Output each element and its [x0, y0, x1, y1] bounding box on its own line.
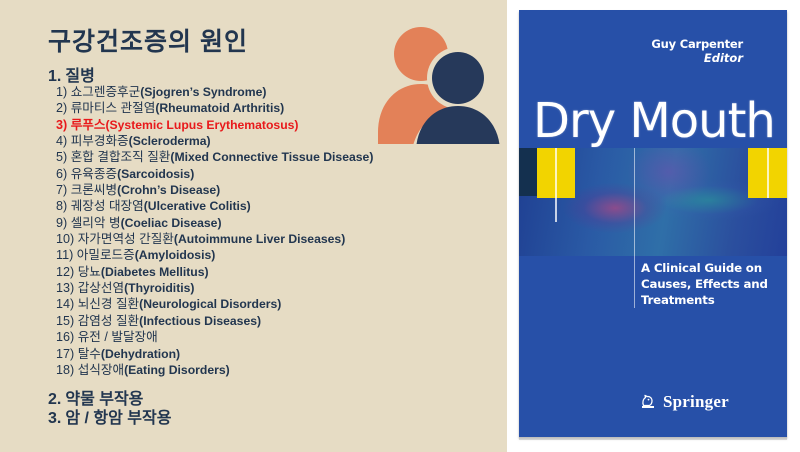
list-item-index: 1)	[56, 85, 67, 99]
list-item-label-en: (Autoimmune Liver Diseases)	[174, 232, 345, 246]
list-item-label-en: (Mixed Connective Tissue Disease)	[170, 150, 373, 164]
list-item-index: 7)	[56, 183, 67, 197]
list-item-label-en: (Dehydration)	[101, 347, 180, 361]
section-label: 질병	[65, 68, 94, 85]
list-item-label-en: (Infectious Diseases)	[139, 314, 261, 328]
list-item: 3) 루푸스(Systemic Lupus Erythematosus)	[56, 117, 476, 133]
list-item: 8) 궤장성 대장염(Ulcerative Colitis)	[56, 198, 476, 214]
list-item-label-en: (Sjogren’s Syndrome)	[140, 85, 266, 99]
list-item-index: 6)	[56, 167, 67, 181]
list-item-label-en: (Amyloidosis)	[135, 248, 216, 262]
list-item-index: 16)	[56, 330, 74, 344]
list-item: 11) 아밀로드증(Amyloidosis)	[56, 247, 476, 263]
list-item-label-en: (Crohn’s Disease)	[117, 183, 220, 197]
list-item-label-ko: 아밀로드증	[77, 248, 135, 262]
list-item-index: 12)	[56, 265, 74, 279]
page-title: 구강건조증의 원인	[48, 22, 248, 58]
list-item-index: 2)	[56, 101, 67, 115]
list-item-index: 8)	[56, 199, 67, 213]
book-cover: Guy Carpenter Editor Dry Mouth A Clinica…	[519, 10, 787, 437]
springer-knight-icon	[637, 392, 657, 412]
list-item-index: 5)	[56, 150, 67, 164]
list-item-label-en: (Eating Disorders)	[124, 363, 230, 377]
list-item-index: 11)	[56, 248, 73, 262]
list-item-label-ko: 궤장성 대장염	[71, 199, 144, 213]
list-item-label-ko: 유육종증	[71, 167, 117, 181]
list-item: 17) 탈수(Dehydration)	[56, 346, 476, 362]
list-item-label-en: (Thyroiditis)	[124, 281, 194, 295]
list-item: 12) 당뇨(Diabetes Mellitus)	[56, 264, 476, 280]
book-author-name: Guy Carpenter	[519, 38, 743, 51]
slide-panel: 구강건조증의 원인 1.질병 1) 쇼그렌증후군(Sjogren’s Syndr…	[0, 0, 507, 452]
list-item-label-en: (Sarcoidosis)	[117, 167, 194, 181]
list-item-label-ko: 탈수	[78, 347, 101, 361]
list-item-index: 15)	[56, 314, 74, 328]
list-item: 2) 류마티스 관절염(Rheumatoid Arthritis)	[56, 100, 476, 116]
list-item-label-ko: 셀리악 병	[71, 216, 121, 230]
book-cover-area: Guy Carpenter Editor Dry Mouth A Clinica…	[507, 0, 800, 452]
list-item-label-ko: 유전 / 발달장애	[78, 330, 158, 344]
list-item-label-en: (Systemic Lupus Erythematosus)	[105, 118, 298, 132]
book-author-role: Editor	[519, 51, 743, 65]
list-item: 14) 뇌신경 질환(Neurological Disorders)	[56, 296, 476, 312]
disease-list: 1) 쇼그렌증후군(Sjogren’s Syndrome)2) 류마티스 관절염…	[56, 84, 476, 378]
list-item-label-ko: 섭식장애	[78, 363, 124, 377]
list-item-label-ko: 감염성 질환	[78, 314, 139, 328]
section-heading-cancer-side-effects: 3.암 / 항암 부작용	[48, 404, 171, 428]
list-item-index: 18)	[56, 363, 74, 377]
list-item-index: 4)	[56, 134, 67, 148]
list-item-index: 17)	[56, 347, 74, 361]
list-item: 5) 혼합 결합조직 질환(Mixed Connective Tissue Di…	[56, 149, 476, 165]
list-item: 7) 크론씨병(Crohn’s Disease)	[56, 182, 476, 198]
list-item: 16) 유전 / 발달장애	[56, 329, 476, 345]
list-item: 6) 유육종증(Sarcoidosis)	[56, 166, 476, 182]
list-item-label-ko: 쇼그렌증후군	[71, 85, 141, 99]
white-stripe-right	[767, 148, 769, 198]
section-number: 1.	[48, 68, 61, 85]
list-item-label-en: (Diabetes Mellitus)	[101, 265, 209, 279]
list-item-label-en: (Coeliac Disease)	[121, 216, 222, 230]
cover-divider-line	[634, 148, 635, 308]
list-item: 15) 감염성 질환(Infectious Diseases)	[56, 313, 476, 329]
list-item: 1) 쇼그렌증후군(Sjogren’s Syndrome)	[56, 84, 476, 100]
section-label: 암 / 항암 부작용	[65, 410, 171, 427]
list-item-label-en: (Rheumatoid Arthritis)	[155, 101, 284, 115]
list-item-label-ko: 크론씨병	[71, 183, 117, 197]
list-item-label-ko: 피부경화증	[71, 134, 129, 148]
book-subtitle: A Clinical Guide on Causes, Effects and …	[641, 260, 781, 308]
section-heading-disease: 1.질병	[48, 62, 95, 86]
list-item-label-ko: 류마티스 관절염	[71, 101, 156, 115]
list-item-label-ko: 루푸스	[71, 118, 106, 132]
section-number: 3.	[48, 410, 61, 427]
list-item-label-en: (Ulcerative Colitis)	[144, 199, 251, 213]
list-item: 4) 피부경화증(Scleroderma)	[56, 133, 476, 149]
list-item: 10) 자가면역성 간질환(Autoimmune Liver Diseases)	[56, 231, 476, 247]
springer-wordmark: Springer	[663, 392, 729, 412]
springer-logo: Springer	[637, 392, 729, 412]
list-item-index: 14)	[56, 297, 74, 311]
list-item-index: 9)	[56, 216, 67, 230]
list-item-index: 3)	[56, 118, 67, 132]
list-item: 13) 갑상선염(Thyroiditis)	[56, 280, 476, 296]
white-stripe-left	[555, 148, 557, 222]
list-item: 9) 셀리악 병(Coeliac Disease)	[56, 215, 476, 231]
list-item-label-en: (Scleroderma)	[129, 134, 211, 148]
book-author-block: Guy Carpenter Editor	[519, 38, 743, 65]
book-shadow	[519, 437, 787, 440]
list-item-label-en: (Neurological Disorders)	[139, 297, 281, 311]
list-item-label-ko: 자가면역성 간질환	[78, 232, 174, 246]
list-item-label-ko: 혼합 결합조직 질환	[71, 150, 171, 164]
list-item-label-ko: 갑상선염	[78, 281, 124, 295]
list-item: 18) 섭식장애(Eating Disorders)	[56, 362, 476, 378]
list-item-index: 10)	[56, 232, 74, 246]
list-item-label-ko: 당뇨	[78, 265, 101, 279]
list-item-label-ko: 뇌신경 질환	[78, 297, 139, 311]
list-item-index: 13)	[56, 281, 74, 295]
cover-artwork	[519, 148, 787, 256]
book-title: Dry Mouth	[533, 93, 775, 149]
